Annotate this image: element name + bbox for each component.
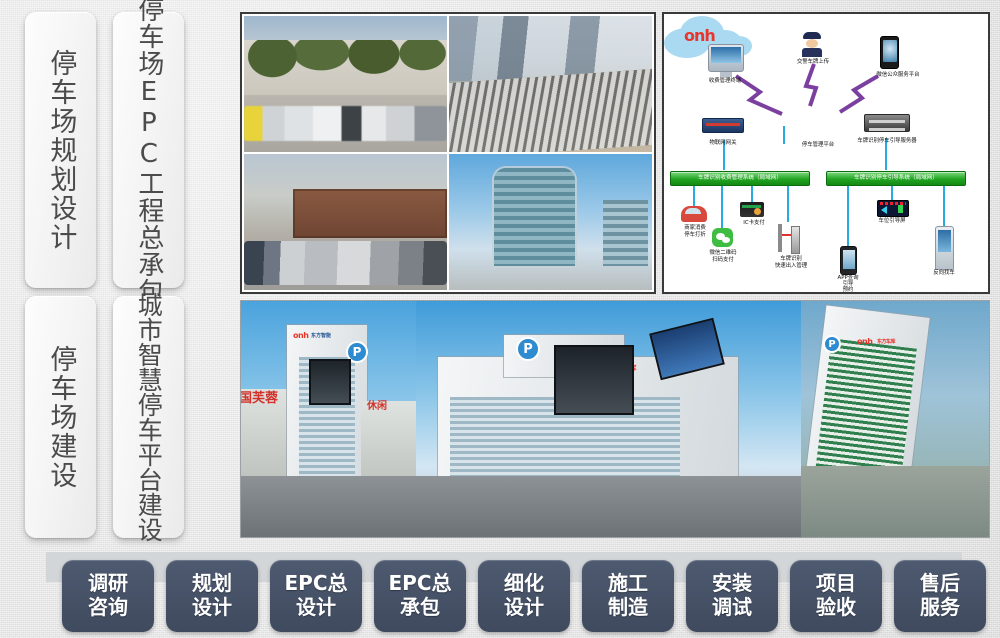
card-parking-construction[interactable]: 停车场建设 (25, 296, 96, 538)
step-epc-general-contracting-label: EPC总 承包 (389, 572, 452, 619)
mobile-app-icon (840, 246, 857, 275)
render1-brand-text: 东方智能 (311, 332, 331, 339)
step-construction-manufacturing-label: 施工 制造 (608, 572, 648, 619)
step-detailed-design-label: 细化 设计 (504, 572, 544, 619)
card-smart-parking-platform-label: 城市智慧停车平台建设 (134, 292, 164, 542)
photo-glass-tower-street (449, 154, 652, 290)
card-smart-parking-platform[interactable]: 城市智慧停车平台建设 (113, 296, 184, 538)
render-multistorey-garage: onh 东方车库 P (416, 301, 801, 537)
smart-parking-system-architecture: onh 停车管理平台 收费管理终端 交警车牌上传 微信公众服务平台 物联网网关 … (662, 12, 990, 294)
desktop-monitor-icon (708, 44, 744, 77)
step-detailed-design[interactable]: 细化 设计 (478, 560, 570, 632)
render3-p-badge: P (823, 335, 841, 353)
step-epc-overall-design[interactable]: EPC总 设计 (270, 560, 362, 632)
step-survey-consulting[interactable]: 调研 咨询 (62, 560, 154, 632)
render1-sign-right: 休闲 (367, 397, 387, 412)
leaf-wechat-qr-pay-label: 微信二维码 扫码支付 (692, 250, 754, 264)
leaf-ic-card-pay-label: IC卡支付 (730, 220, 778, 227)
bar-anpr-guidance-system: 车牌识别停车引导系统（局域网） (826, 171, 966, 186)
leaf-reverse-car-finding-label: 反向找车 (920, 270, 968, 277)
cloud-brand-logo: onh (684, 26, 715, 45)
wechat-icon (712, 228, 733, 247)
red-car-icon (681, 206, 707, 222)
node-traffic-police-upload-label: 交警车牌上传 (772, 59, 854, 66)
photo-brick-building-lot (244, 154, 447, 290)
node-wechat-public-service-label: 微信公众服务平台 (850, 72, 946, 79)
render1-brand-logo: onh (293, 331, 308, 340)
leaf-anpr-fast-access-label: 车牌识别 快速出入管理 (756, 256, 826, 270)
kiosk-icon (935, 226, 954, 270)
render2-p-badge: P (516, 337, 540, 361)
node-toll-management-terminal-label: 收费管理终端 (684, 78, 766, 85)
render3-brand-logo: onh (857, 337, 872, 346)
photo-surface-lot-trees (244, 16, 447, 152)
smartphone-icon (880, 36, 899, 69)
step-survey-consulting-label: 调研 咨询 (88, 572, 128, 619)
led-guidance-screen-icon (877, 200, 909, 217)
card-epc-general-contracting-label: 停车场EPC工程总承包 (133, 0, 164, 305)
step-project-acceptance[interactable]: 项目 验收 (790, 560, 882, 632)
router-icon (702, 118, 744, 133)
card-parking-construction-label: 停车场建设 (45, 345, 77, 490)
step-planning-design[interactable]: 规划 设计 (166, 560, 258, 632)
police-officer-icon (802, 32, 822, 56)
step-planning-design-label: 规划 设计 (192, 572, 232, 619)
step-installation-commissioning[interactable]: 安装 调试 (686, 560, 778, 632)
step-after-sales-service[interactable]: 售后 服务 (894, 560, 986, 632)
card-planning-design-label: 停车场规划设计 (45, 49, 77, 252)
card-planning-design[interactable]: 停车场规划设计 (25, 12, 96, 288)
leaf-app-query-guidance-label: APP查询 引导 预约 (824, 275, 872, 294)
leaf-parking-guidance-screen-label: 车位引导屏 (862, 218, 922, 225)
ic-card-icon (740, 202, 764, 217)
step-installation-commissioning-label: 安装 调试 (712, 572, 752, 619)
render1-sign-left: 国芙蓉 (241, 387, 278, 406)
step-epc-overall-design-label: EPC总 设计 (285, 572, 348, 619)
render-tower-garage-street: 国芙蓉 onh 东方智能 P 休闲 (241, 301, 416, 537)
step-construction-manufacturing[interactable]: 施工 制造 (582, 560, 674, 632)
rack-server-icon (864, 114, 910, 132)
barrier-gate-icon (776, 218, 800, 252)
parking-garage-renderings: 国芙蓉 onh 东方智能 P 休闲 onh 东方车库 P P on (240, 300, 990, 538)
node-anpr-guidance-server-label: 车牌识别停车引导服务器 (834, 138, 940, 145)
render-aerial-tower-garage: P onh 东方车库 (801, 301, 989, 537)
bar-anpr-toll-system: 车牌识别收费管理系统（局域网） (670, 171, 810, 186)
render3-brand-text: 东方车库 (877, 338, 895, 345)
card-epc-general-contracting[interactable]: 停车场EPC工程总承包 (113, 12, 184, 288)
node-iot-gateway-label: 物联网网关 (690, 140, 756, 147)
step-project-acceptance-label: 项目 验收 (816, 572, 856, 619)
step-epc-general-contracting[interactable]: EPC总 承包 (374, 560, 466, 632)
page-root: 停车场规划设计 停车场EPC工程总承包 停车场建设 城市智慧停车平台建设 (0, 0, 1000, 638)
parking-site-photo-collage (240, 12, 656, 294)
step-after-sales-service-label: 售后 服务 (920, 572, 960, 619)
photo-aerial-parking-lot (449, 16, 652, 152)
